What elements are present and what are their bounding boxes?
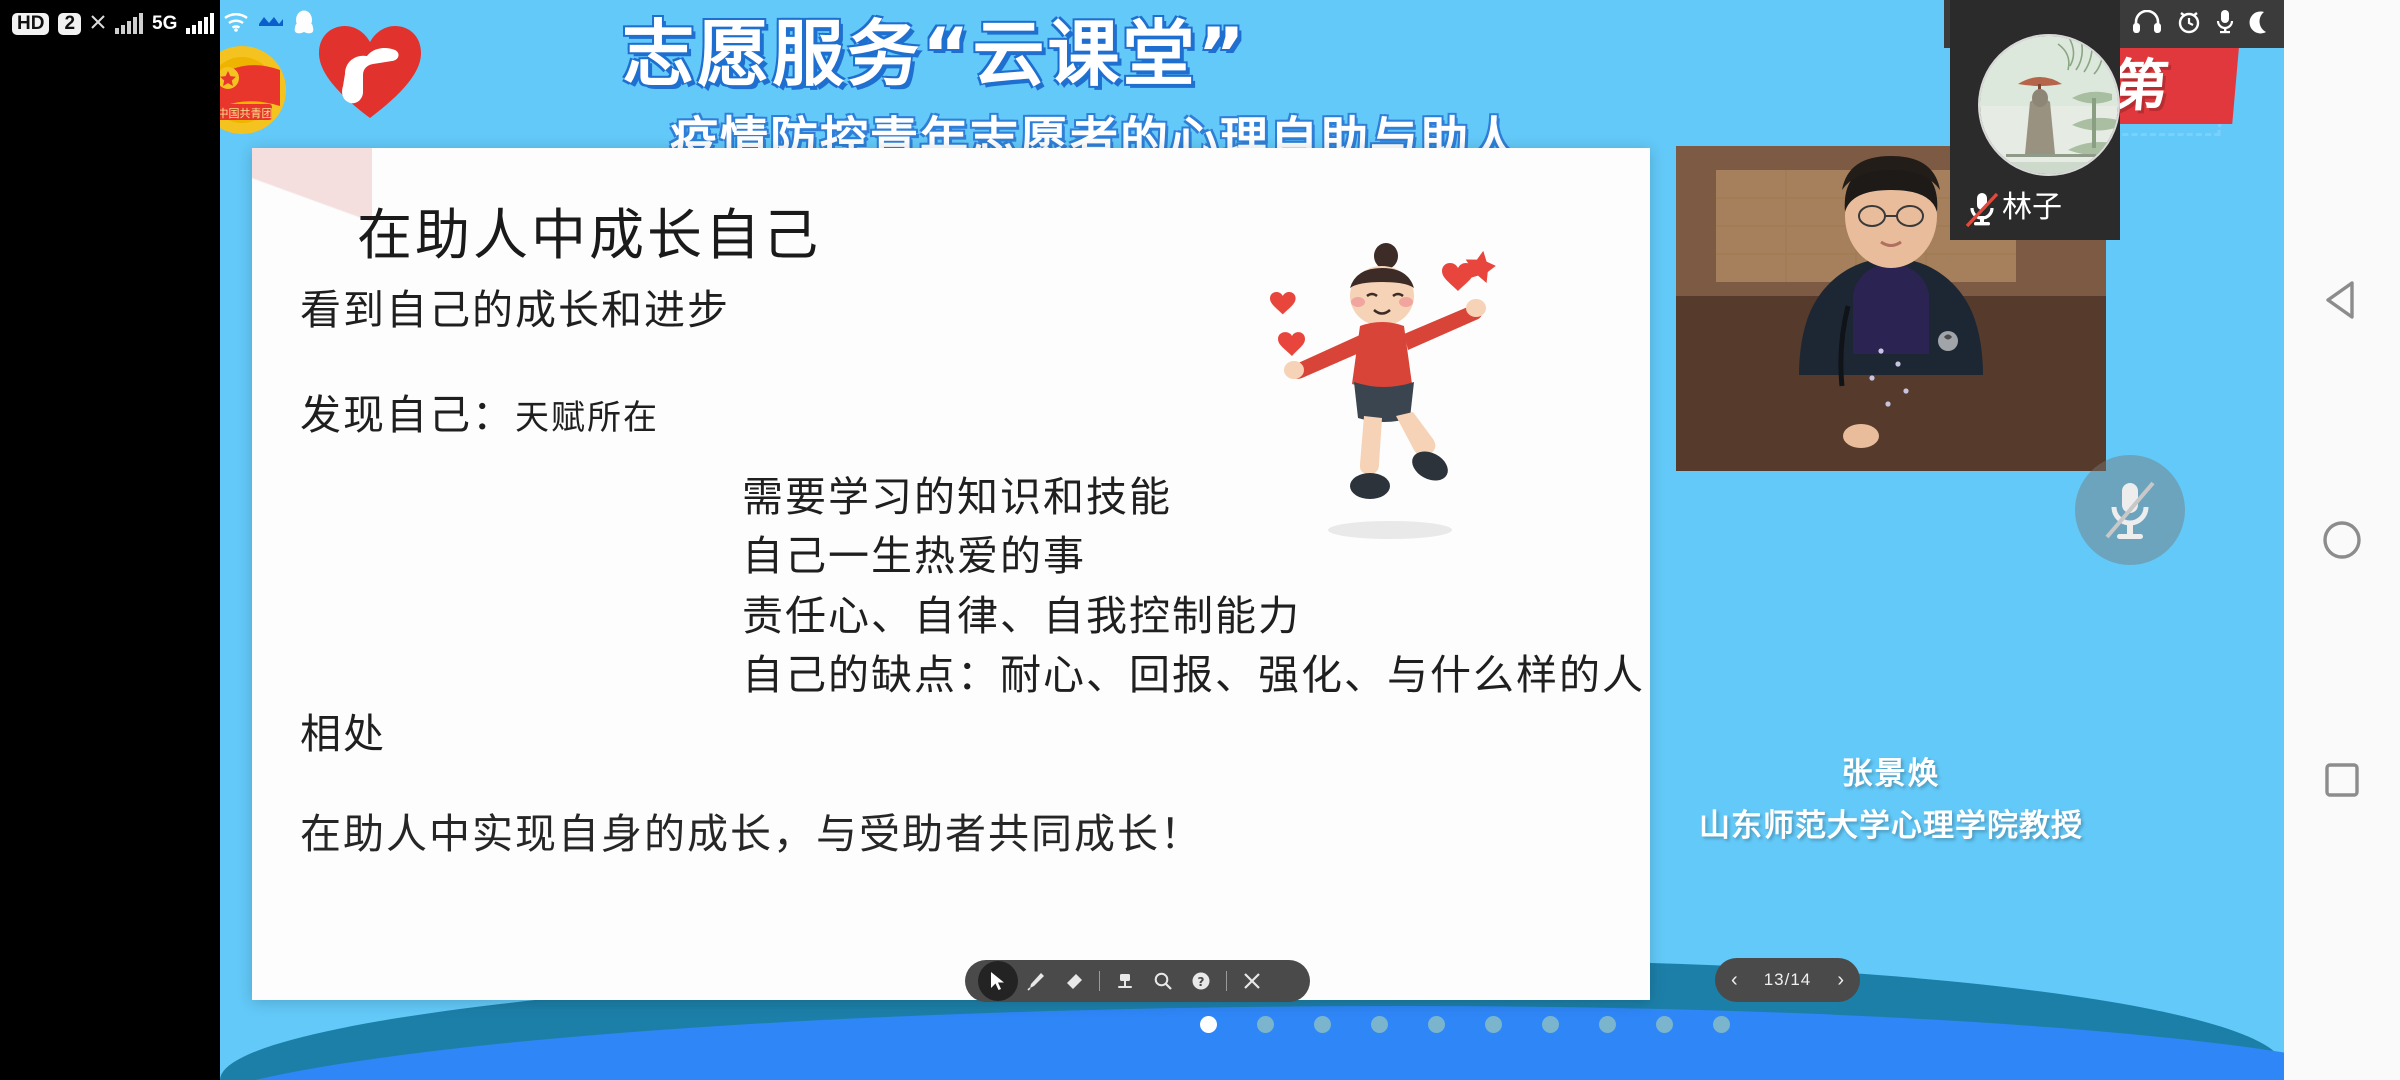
help-tool-button[interactable]: ?: [1182, 962, 1220, 1000]
annotation-toolbar[interactable]: ?: [965, 960, 1310, 1002]
slide-line-7: 相处: [300, 700, 386, 760]
carousel-dot[interactable]: [1656, 1016, 1673, 1033]
avatar: [1978, 34, 2120, 176]
svg-text:中国共青团: 中国共青团: [220, 107, 273, 120]
carousel-dot[interactable]: [1713, 1016, 1730, 1033]
screen: 中国共青团 志愿服务“云课堂” 疫情防控青年志愿者的心理自助与助人 第 在助人中…: [0, 0, 2400, 1080]
carousel-dot[interactable]: [1371, 1016, 1388, 1033]
microphone-muted-icon: [1964, 190, 2000, 230]
prev-slide-button[interactable]: ‹: [1731, 969, 1738, 992]
messenger-icon: [258, 14, 284, 35]
microphone-icon: [2216, 9, 2234, 40]
slide-line-1: 看到自己的成长和进步: [300, 276, 730, 336]
pen-tool-button[interactable]: [1017, 962, 1055, 1000]
close-icon: [90, 14, 106, 35]
carousel-dot[interactable]: [1257, 1016, 1274, 1033]
slide-line-6: 自己的缺点：耐心、回报、强化、与什么样的人: [742, 641, 1645, 701]
slide-line-2: 发现自己：天赋所在: [300, 381, 659, 441]
presentation-slide[interactable]: 在助人中成长自己 看到自己的成长和进步 发现自己：天赋所在 需要学习的知识和技能…: [252, 148, 1650, 1000]
slide-corner-decoration: [252, 148, 372, 278]
carousel-dot[interactable]: [1200, 1016, 1217, 1033]
carousel-dot[interactable]: [1314, 1016, 1331, 1033]
close-toolbar-button[interactable]: [1233, 962, 1271, 1000]
toolbar-divider-2: [1226, 971, 1227, 991]
moon-dnd-icon: [2248, 10, 2270, 39]
status-bar-left: HD 2 5G: [6, 9, 315, 40]
signal-bars-icon: [115, 14, 143, 34]
floating-participant-tile[interactable]: 林子: [1950, 0, 2120, 240]
presenter-name: 张景焕: [1676, 748, 2106, 793]
carousel-dot[interactable]: [1485, 1016, 1502, 1033]
slide-line-3: 需要学习的知识和技能: [742, 463, 1172, 523]
pointer-tool-button[interactable]: [979, 962, 1017, 1000]
microphone-muted-overlay-icon[interactable]: [2075, 455, 2185, 565]
slide-line-4: 自己一生热爱的事: [742, 522, 1086, 582]
slide-line-5: 责任心、自律、自我控制能力: [742, 582, 1301, 642]
hd-badge: HD: [12, 13, 49, 35]
slide-line-2-main: 发现自己：: [300, 391, 515, 439]
zoom-tool-button[interactable]: [1144, 962, 1182, 1000]
running-child-with-hearts-illustration: [1262, 238, 1542, 568]
next-slide-button[interactable]: ›: [1837, 969, 1844, 992]
wifi-icon: [223, 12, 249, 37]
carousel-dot[interactable]: [1542, 1016, 1559, 1033]
svg-text:?: ?: [1198, 975, 1205, 989]
network-5g-label: 5G: [152, 13, 177, 35]
qq-penguin-icon: [293, 9, 315, 40]
carousel-dot[interactable]: [1599, 1016, 1616, 1033]
slide-line-2-tail: 天赋所在: [515, 398, 659, 438]
carousel-dot[interactable]: [1428, 1016, 1445, 1033]
home-circle-icon[interactable]: [2319, 517, 2365, 563]
participant-name: 林子: [2002, 182, 2062, 226]
android-navigation-bar[interactable]: [2284, 0, 2400, 1080]
alarm-clock-icon: [2176, 9, 2202, 40]
carousel-dots[interactable]: [1200, 1016, 1730, 1033]
recents-square-icon[interactable]: [2319, 757, 2365, 803]
slide-title: 在助人中成长自己: [357, 190, 821, 270]
slide-page-indicator: 13/14: [1764, 970, 1812, 990]
toolbar-divider-1: [1099, 971, 1100, 991]
back-triangle-icon[interactable]: [2319, 277, 2365, 323]
sim-badge: 2: [58, 13, 81, 35]
signal-bars-2-icon: [186, 14, 214, 34]
laser-pointer-tool-button[interactable]: [1106, 962, 1144, 1000]
headphones-icon: [2132, 10, 2162, 39]
slide-line-8: 在助人中实现自身的成长，与受助者共同成长！: [300, 800, 1203, 860]
slide-pager[interactable]: ‹ 13/14 ›: [1715, 958, 1860, 1002]
eraser-tool-button[interactable]: [1055, 962, 1093, 1000]
presenter-role: 山东师范大学心理学院教授: [1616, 800, 2166, 845]
